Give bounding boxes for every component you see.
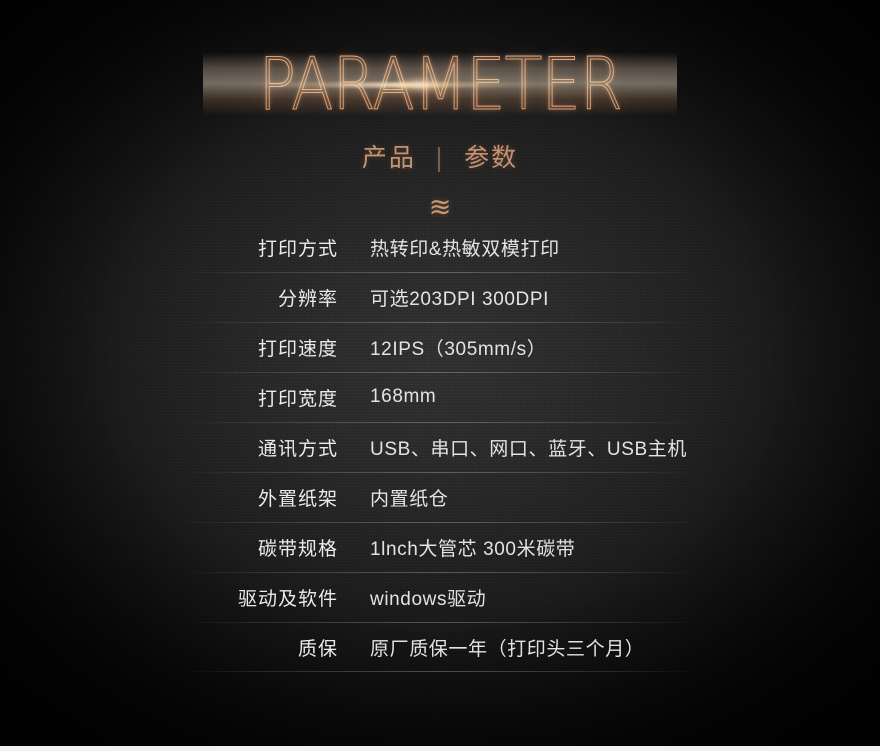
wave-ornament-icon: ≋ [0, 194, 880, 221]
bottom-edge-strip [0, 746, 880, 751]
spec-label: 质保 [0, 634, 338, 661]
spec-value: windows驱动 [370, 584, 486, 611]
table-row: 打印速度 12IPS（305mm/s） [0, 322, 880, 372]
spec-label: 打印方式 [0, 234, 338, 261]
spec-label: 通讯方式 [0, 434, 338, 461]
spec-value: USB、串口、网口、蓝牙、USB主机 [370, 434, 687, 461]
table-row: 质保 原厂质保一年（打印头三个月） [0, 622, 880, 672]
spec-label: 分辨率 [0, 284, 338, 311]
spec-value: 可选203DPI 300DPI [370, 284, 549, 311]
page-subtitle: 产品 | 参数 [0, 138, 880, 174]
table-row: 驱动及软件 windows驱动 [0, 572, 880, 622]
spec-value: 168mm [370, 386, 436, 408]
spec-label: 碳带规格 [0, 534, 338, 561]
spec-value: 热转印&热敏双模打印 [370, 234, 560, 261]
table-row: 分辨率 可选203DPI 300DPI [0, 272, 880, 322]
spec-table: 打印方式 热转印&热敏双模打印 分辨率 可选203DPI 300DPI 打印速度… [0, 222, 880, 672]
subtitle-divider: | [435, 143, 445, 172]
table-row: 打印宽度 168mm [0, 372, 880, 422]
spec-value: 1lnch大管芯 300米碳带 [370, 534, 575, 561]
table-row: 碳带规格 1lnch大管芯 300米碳带 [0, 522, 880, 572]
table-row: 打印方式 热转印&热敏双模打印 [0, 222, 880, 272]
table-row: 外置纸架 内置纸仓 [0, 472, 880, 522]
parameter-spec-page: PARAMETER 产品 | 参数 ≋ 打印方式 热转印&热敏双模打印 分辨率 … [0, 0, 880, 751]
subtitle-left-text: 产品 [362, 143, 416, 172]
title-block: PARAMETER [229, 48, 652, 120]
spec-value: 原厂质保一年（打印头三个月） [370, 634, 644, 661]
spec-label: 驱动及软件 [0, 584, 338, 611]
spec-label: 外置纸架 [0, 484, 338, 511]
header: PARAMETER 产品 | 参数 ≋ [0, 0, 880, 221]
spec-label: 打印宽度 [0, 384, 338, 411]
spec-label: 打印速度 [0, 334, 338, 361]
page-title: PARAMETER [258, 48, 621, 120]
table-row: 通讯方式 USB、串口、网口、蓝牙、USB主机 [0, 422, 880, 472]
subtitle-right-text: 参数 [464, 143, 518, 172]
spec-value: 内置纸仓 [370, 484, 448, 511]
spec-value: 12IPS（305mm/s） [370, 334, 546, 361]
